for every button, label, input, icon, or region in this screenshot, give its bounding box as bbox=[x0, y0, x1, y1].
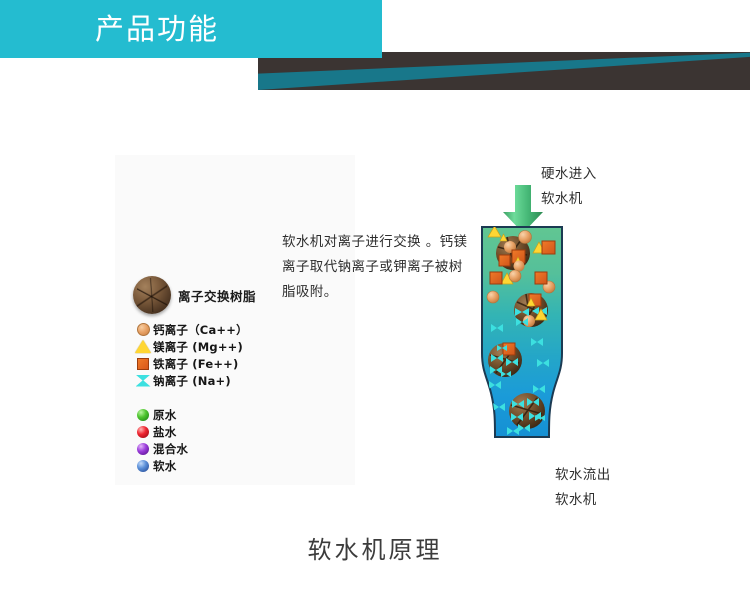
legend-label-iron: 铁离子 (Fe++) bbox=[153, 356, 238, 372]
page-title: 产品功能 bbox=[95, 9, 219, 49]
legend-label-raw-water: 原水 bbox=[153, 407, 176, 423]
legend-group-waters: 原水 盐水 混合水 软水 bbox=[133, 406, 323, 474]
header-banner: 产品功能 bbox=[0, 0, 750, 90]
legend-divider bbox=[133, 389, 323, 402]
inlet-label: 硬水进入 软水机 bbox=[541, 162, 671, 212]
legend-group-ions: 钙离子（Ca++） 镁离子 (Mg++) 铁离子 (Fe++) 钠离子 (Na+… bbox=[133, 321, 323, 389]
legend-item-brine: 盐水 bbox=[133, 423, 323, 440]
sphere-blue-icon bbox=[133, 460, 153, 472]
legend-item-sodium: 钠离子 (Na+) bbox=[133, 372, 323, 389]
figure-caption: 软水机原理 bbox=[0, 530, 750, 565]
sphere-purple-icon bbox=[133, 443, 153, 455]
explanation-text: 软水机对离子进行交换 。钙镁离子取代钠离子或钾离子被树脂吸附。 bbox=[282, 230, 472, 305]
legend-item-soft-water: 软水 bbox=[133, 457, 323, 474]
bowtie-icon bbox=[133, 375, 153, 387]
legend-label-brine: 盐水 bbox=[153, 424, 176, 440]
legend-label-sodium: 钠离子 (Na+) bbox=[153, 373, 231, 389]
softener-column-icon bbox=[479, 225, 565, 457]
triangle-icon bbox=[133, 340, 153, 353]
legend-item-iron: 铁离子 (Fe++) bbox=[133, 355, 323, 372]
legend-item-mixed-water: 混合水 bbox=[133, 440, 323, 457]
legend-label-soft-water: 软水 bbox=[153, 458, 176, 474]
legend-label-mixed-water: 混合水 bbox=[153, 441, 188, 457]
legend-item-calcium: 钙离子（Ca++） bbox=[133, 321, 323, 338]
circle-icon bbox=[133, 323, 153, 336]
legend-item-raw-water: 原水 bbox=[133, 406, 323, 423]
legend-item-magnesium: 镁离子 (Mg++) bbox=[133, 338, 323, 355]
sphere-red-icon bbox=[133, 426, 153, 438]
outlet-label: 软水流出 软水机 bbox=[555, 463, 685, 513]
sphere-green-icon bbox=[133, 409, 153, 421]
resin-ball-icon bbox=[133, 276, 171, 314]
legend-label-calcium: 钙离子（Ca++） bbox=[153, 322, 248, 338]
square-icon bbox=[133, 358, 153, 370]
legend-resin-label: 离子交换树脂 bbox=[178, 286, 256, 305]
diagram-canvas: 离子交换树脂 钙离子（Ca++） 镁离子 (Mg++) 铁离子 (Fe++) 钠… bbox=[0, 90, 750, 597]
legend-label-magnesium: 镁离子 (Mg++) bbox=[153, 339, 243, 355]
